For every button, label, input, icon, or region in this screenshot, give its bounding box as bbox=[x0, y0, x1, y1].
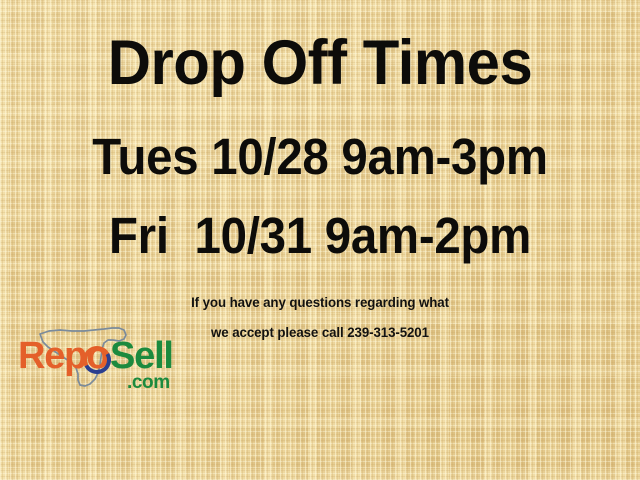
note-line-1: If you have any questions regarding what bbox=[16, 295, 624, 309]
reposell-logo[interactable]: Repo Sell .com bbox=[16, 318, 196, 398]
slide-content: Drop Off Times Tues 10/28 9am-3pm Fri 10… bbox=[0, 0, 640, 480]
slide-canvas: Drop Off Times Tues 10/28 9am-3pm Fri 10… bbox=[0, 0, 640, 480]
page-title: Drop Off Times bbox=[16, 32, 624, 95]
dropoff-time-row-1: Tues 10/28 9am-3pm bbox=[22, 131, 617, 182]
dropoff-time-row-2: Fri 10/31 9am-2pm bbox=[22, 210, 617, 261]
logo-text-sell: Sell bbox=[110, 335, 173, 377]
reposell-logo-graphic: Repo Sell .com bbox=[16, 318, 196, 398]
logo-text-tld: .com bbox=[127, 372, 170, 393]
